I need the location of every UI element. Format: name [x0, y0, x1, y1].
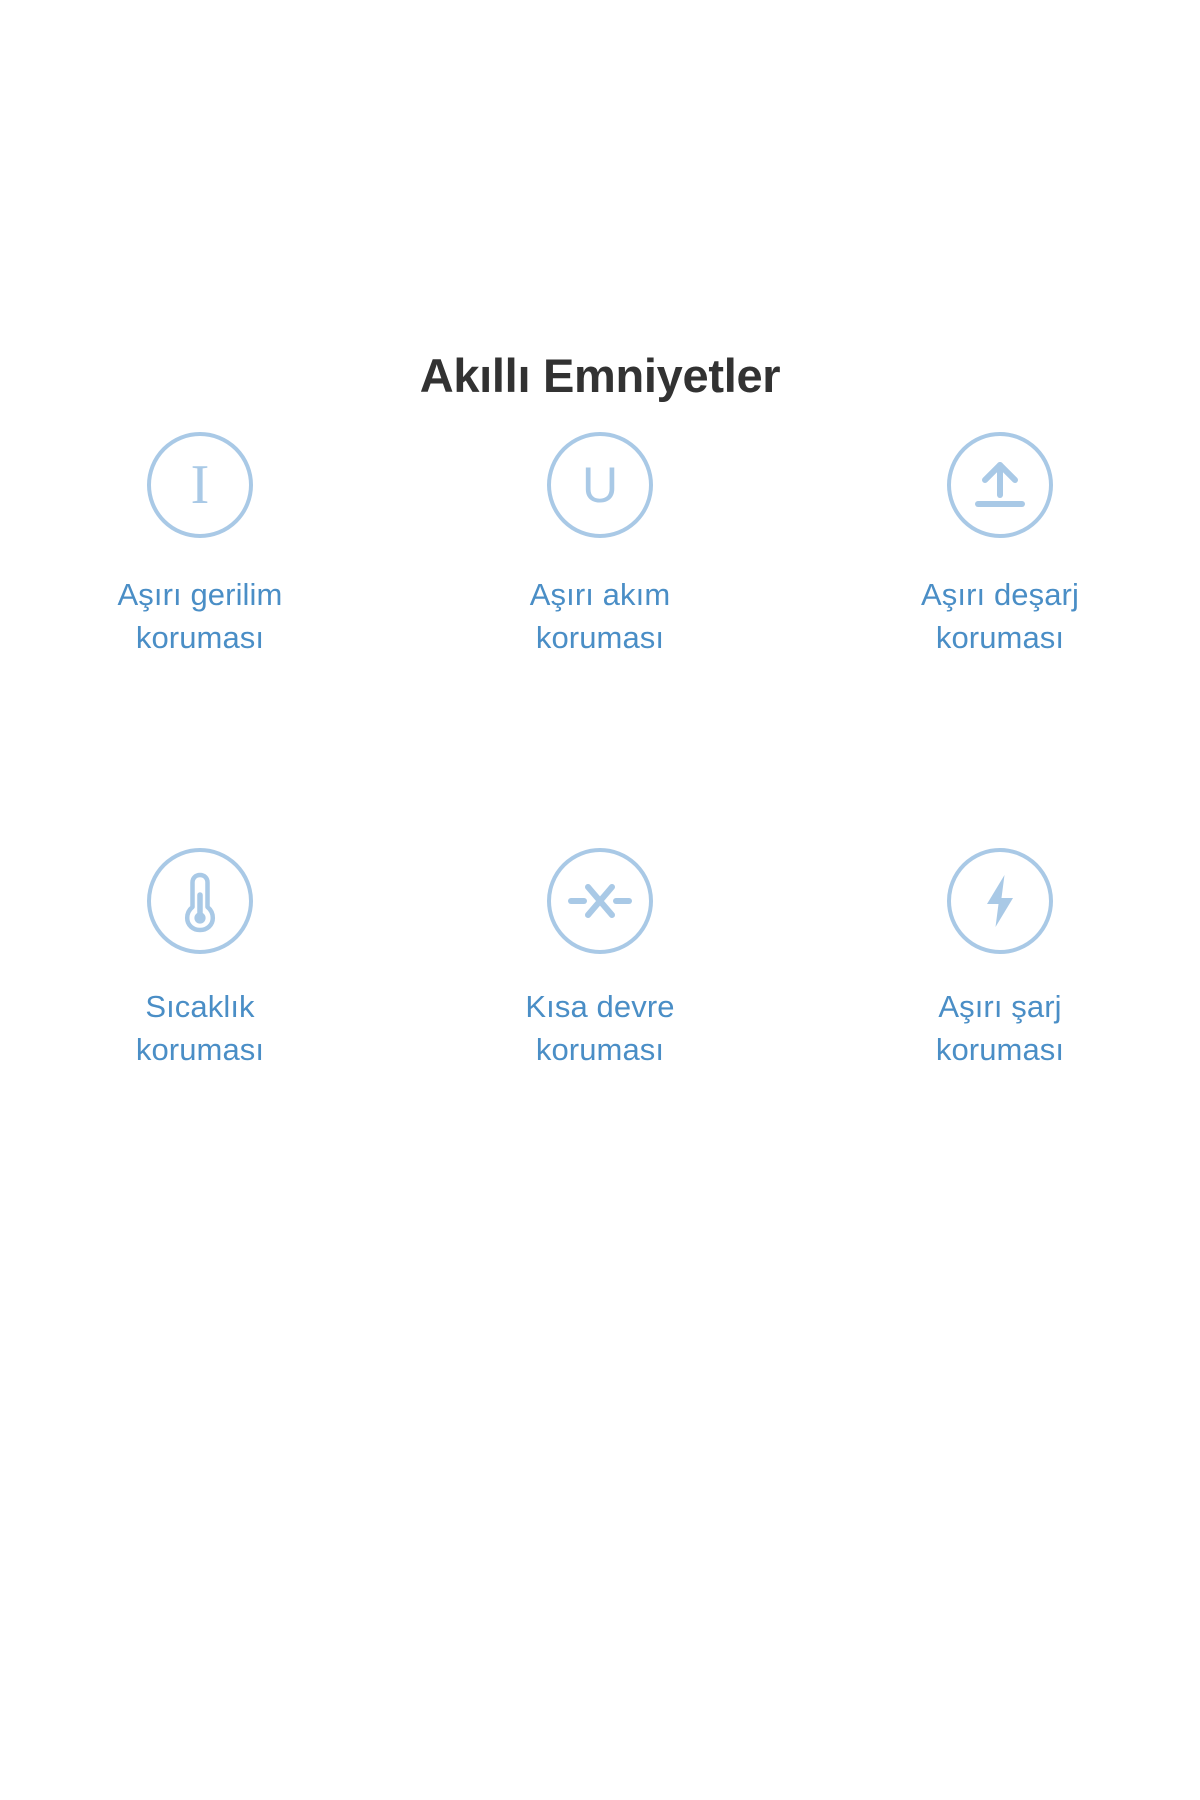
feature-label: Aşırı deşarj koruması: [921, 574, 1079, 660]
short-circuit-icon: [547, 848, 653, 954]
smart-safety-features-page: Akıllı Emniyetler I Aşırı gerilim koruma…: [0, 0, 1200, 1800]
feature-card-over-discharge: Aşırı deşarj koruması: [830, 432, 1170, 848]
feature-label: Aşırı akım koruması: [530, 574, 671, 660]
feature-card-over-charge: Aşırı şarj koruması: [830, 848, 1170, 1264]
lightning-bolt-icon-glyph: [983, 873, 1017, 929]
over-discharge-arrow-up-icon: [947, 432, 1053, 538]
thermometer-icon-glyph: [183, 871, 217, 931]
feature-label: Kısa devre koruması: [525, 986, 674, 1072]
feature-card-over-voltage: I Aşırı gerilim koruması: [30, 432, 370, 848]
feature-label-line2: koruması: [936, 1029, 1064, 1072]
short-circuit-icon-glyph: [569, 880, 631, 922]
feature-label-line1: Aşırı gerilim: [118, 577, 283, 612]
feature-label-line1: Aşırı akım: [530, 577, 671, 612]
voltage-u-icon-glyph: U: [582, 460, 618, 510]
thermometer-icon: [147, 848, 253, 954]
voltage-u-icon: U: [547, 432, 653, 538]
current-i-icon-glyph: I: [191, 457, 210, 513]
feature-label: Aşırı gerilim koruması: [118, 574, 283, 660]
feature-label-line2: koruması: [118, 617, 283, 660]
feature-label-line2: koruması: [530, 617, 671, 660]
feature-label-line2: koruması: [921, 617, 1079, 660]
feature-card-short-circuit: Kısa devre koruması: [430, 848, 770, 1264]
feature-label: Sıcaklık koruması: [136, 986, 264, 1072]
lightning-bolt-icon: [947, 848, 1053, 954]
feature-grid: I Aşırı gerilim koruması U Aşırı akım ko…: [0, 432, 1200, 1264]
feature-label-line2: koruması: [136, 1029, 264, 1072]
feature-label-line1: Sıcaklık: [145, 989, 254, 1024]
feature-card-over-current: U Aşırı akım koruması: [430, 432, 770, 848]
over-discharge-arrow-up-icon-glyph: [972, 459, 1028, 511]
feature-label-line1: Aşırı deşarj: [921, 577, 1079, 612]
feature-label-line2: koruması: [525, 1029, 674, 1072]
current-i-icon: I: [147, 432, 253, 538]
feature-label: Aşırı şarj koruması: [936, 986, 1064, 1072]
feature-label-line1: Kısa devre: [525, 989, 674, 1024]
feature-card-temperature: Sıcaklık koruması: [30, 848, 370, 1264]
feature-label-line1: Aşırı şarj: [938, 989, 1061, 1024]
page-title: Akıllı Emniyetler: [0, 349, 1200, 403]
